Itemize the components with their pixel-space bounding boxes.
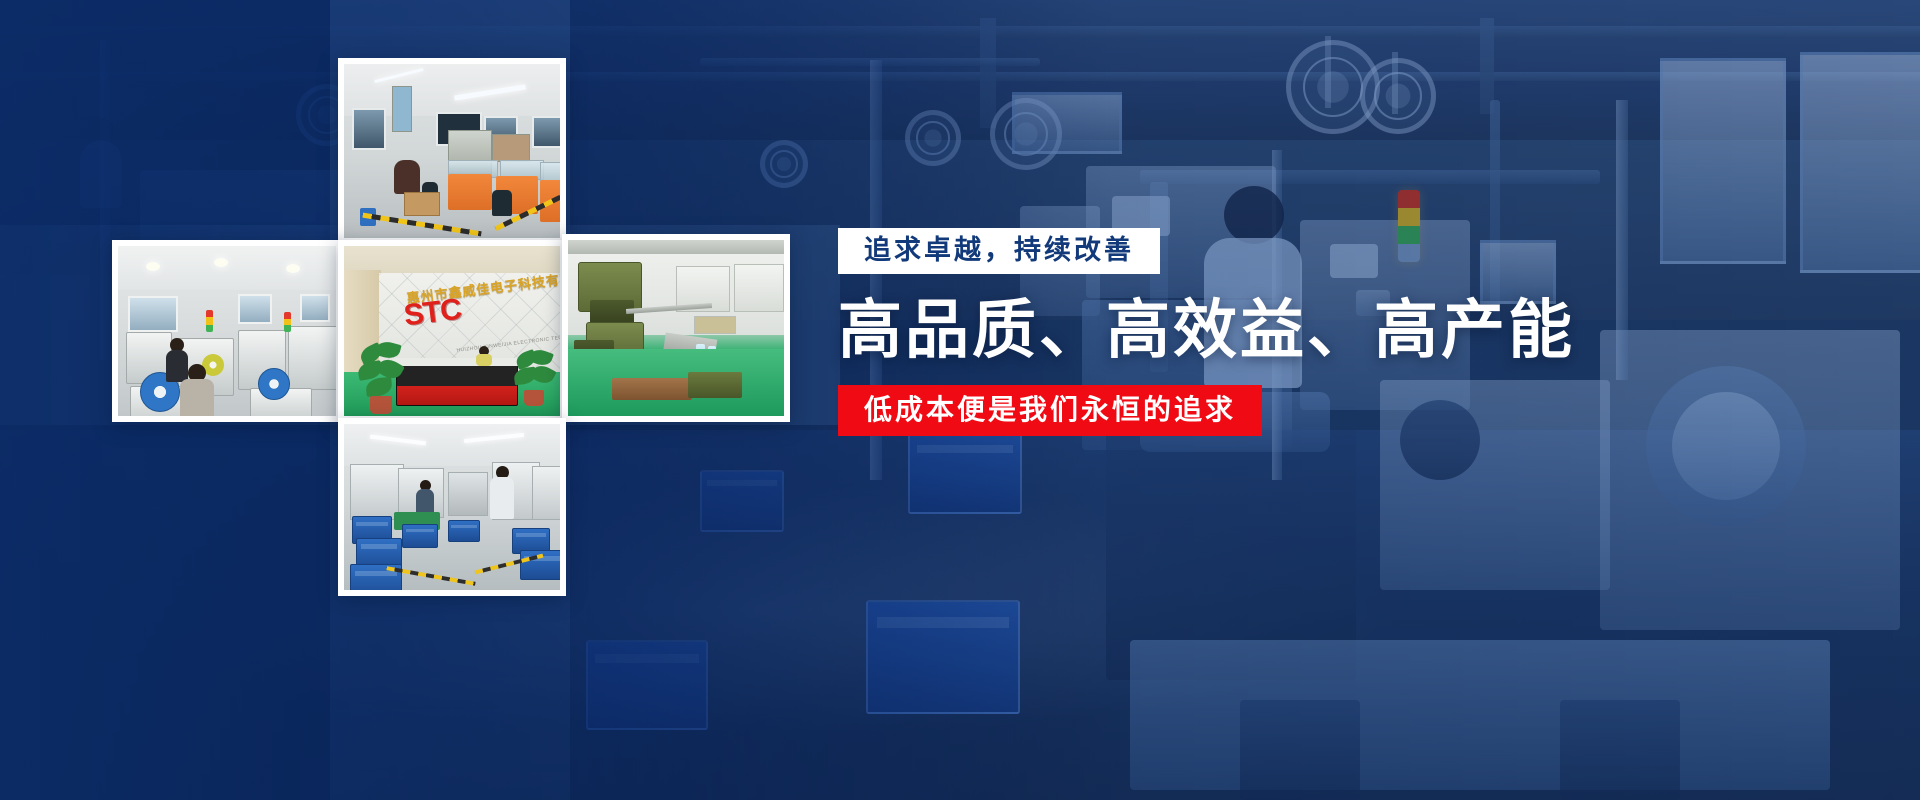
photo-collage: 惠州市鑫威佳电子科技有限公司 STC HUIZHOU XINWEIJIA ELE… bbox=[0, 0, 840, 800]
hero-text-block: 追求卓越，持续改善 高品质、高效益、高产能 低成本便是我们永恒的追求 bbox=[838, 228, 1398, 436]
reception-wall-logo: STC bbox=[402, 293, 463, 334]
hero-subtitle-bottom: 低成本便是我们永恒的追求 bbox=[838, 385, 1262, 436]
collage-photo-assembly-aisle[interactable] bbox=[338, 418, 566, 596]
hero-banner: 惠州市鑫威佳电子科技有限公司 STC HUIZHOU XINWEIJIA ELE… bbox=[0, 0, 1920, 800]
collage-photo-machine-shop[interactable] bbox=[562, 234, 790, 422]
collage-photo-reception[interactable]: 惠州市鑫威佳电子科技有限公司 STC HUIZHOU XINWEIJIA ELE… bbox=[338, 240, 566, 422]
hero-subtitle-top: 追求卓越，持续改善 bbox=[838, 228, 1160, 274]
hero-headline: 高品质、高效益、高产能 bbox=[838, 296, 1398, 365]
collage-photo-office[interactable] bbox=[338, 58, 566, 244]
collage-photo-production-line[interactable] bbox=[112, 240, 342, 422]
